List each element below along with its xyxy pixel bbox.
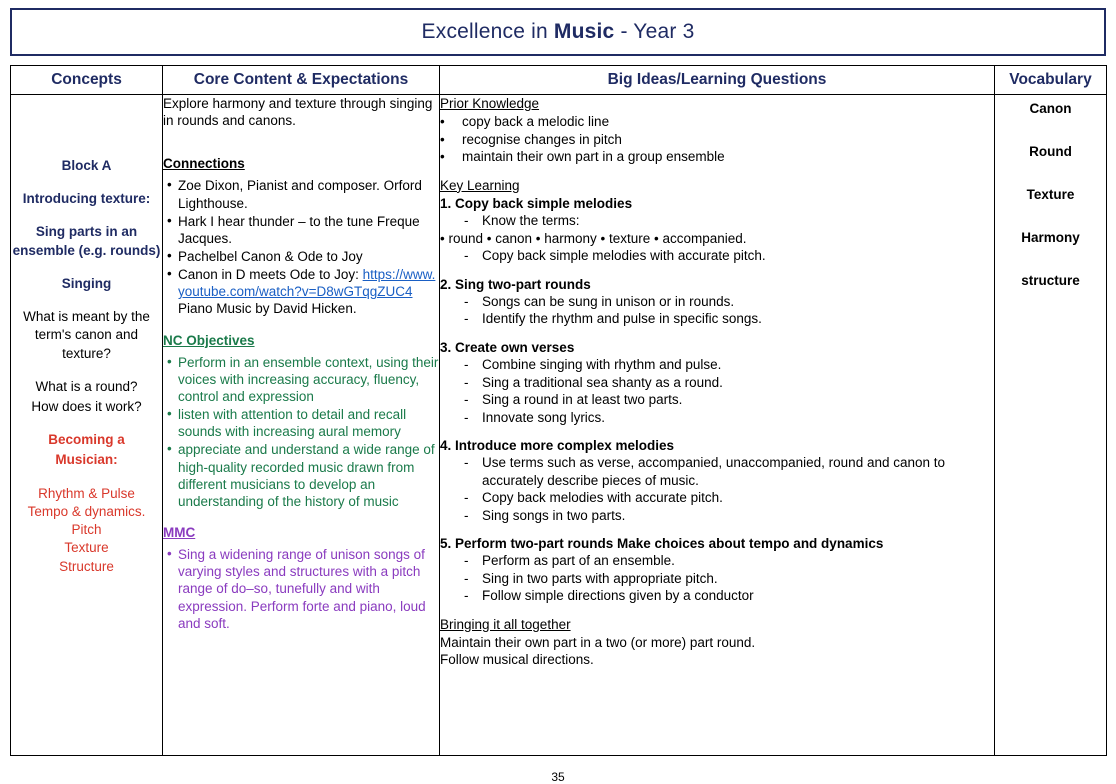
prior-knowledge-item: • recognise changes in pitch [440,131,994,148]
vocabulary-item: structure [995,273,1106,288]
key-learning-line: - Songs can be sung in unison or in roun… [440,293,994,310]
key-learning-section-title: 3. Create own verses [440,339,994,356]
concepts-intro: Introducing texture: [11,190,162,208]
page-number: 35 [0,770,1116,784]
concepts-singing: Singing [11,275,162,293]
connections-item: Pachelbel Canon & Ode to Joy [178,248,439,265]
page-title: Excellence in Music - Year 3 [422,20,695,44]
dash-icon: - [464,489,482,506]
core-intro-text: Explore harmony and texture through sing… [163,95,439,129]
dash-icon: - [464,507,482,524]
column-header-core: Core Content & Expectations [163,66,440,95]
dash-icon: - [464,570,482,587]
bringing-together-heading: Bringing it all together [440,616,994,633]
key-learning-section-title: 2. Sing two-part rounds [440,276,994,293]
link-trailer: Piano Music by David Hicken. [178,301,357,316]
concepts-becoming-line2: Musician: [11,451,162,469]
key-learning-text: Sing a traditional sea shanty as a round… [482,374,994,391]
connection-link-lead: Canon in D meets Ode to Joy: [178,267,359,282]
nc-objective-item: listen with attention to detail and reca… [178,406,439,440]
prior-knowledge-item: • copy back a melodic line [440,113,994,130]
key-learning-line: - Know the terms: [440,212,994,229]
concepts-question-1: What is meant by the term's canon and te… [11,308,162,363]
key-learning-terms: • round • canon • harmony • texture • ac… [440,230,994,247]
key-learning-line: - Use terms such as verse, accompanied, … [440,454,994,489]
column-header-concepts: Concepts [11,66,163,95]
big-ideas-cell: Prior Knowledge • copy back a melodic li… [440,95,995,756]
nc-objective-item: appreciate and understand a wide range o… [178,441,439,510]
prior-knowledge-text: copy back a melodic line [462,113,609,130]
key-learning-section-title: 1. Copy back simple melodies [440,195,994,212]
key-learning-text: Sing songs in two parts. [482,507,994,524]
dash-icon: - [464,212,482,229]
curriculum-table: Concepts Core Content & Expectations Big… [10,65,1107,756]
nc-objectives-heading: NC Objectives [163,332,439,349]
worksheet-page: Excellence in Music - Year 3 Concepts Co… [0,0,1116,781]
page-title-bar: Excellence in Music - Year 3 [10,8,1106,56]
connections-item-link: Canon in D meets Ode to Joy: https://www… [178,266,439,317]
dash-icon: - [464,552,482,569]
prior-knowledge-text: recognise changes in pitch [462,131,622,148]
dash-icon: - [464,293,482,310]
concepts-musician-item: Pitch [11,521,162,539]
connections-list: Zoe Dixon, Pianist and composer. Orford … [163,177,439,317]
key-learning-line: - Sing a round in at least two parts. [440,391,994,408]
bringing-together-line: Follow musical directions. [440,651,994,668]
concepts-question-2b: How does it work? [11,398,162,416]
key-learning-line: - Sing a traditional sea shanty as a rou… [440,374,994,391]
key-learning-text: Sing in two parts with appropriate pitch… [482,570,994,587]
key-learning-text: Innovate song lyrics. [482,409,994,426]
column-header-big-ideas: Big Ideas/Learning Questions [440,66,995,95]
key-learning-section-title: 5. Perform two-part rounds Make choices … [440,535,994,552]
spacer [163,319,439,332]
title-suffix: - Year 3 [614,20,694,43]
vocabulary-item: Harmony [995,230,1106,245]
key-learning-line: - Sing songs in two parts. [440,507,994,524]
key-learning-heading: Key Learning [440,177,994,194]
concepts-block-label: Block A [11,157,162,175]
concepts-question-2a: What is a round? [11,378,162,396]
column-header-vocabulary: Vocabulary [995,66,1107,95]
dash-icon: - [464,409,482,426]
concepts-content: Block A Introducing texture: Sing parts … [11,95,162,576]
connections-item: Hark I hear thunder – to the tune Freque… [178,213,439,247]
key-learning-line: - Sing in two parts with appropriate pit… [440,570,994,587]
dash-icon: - [464,247,482,264]
key-learning-line: - Combine singing with rhythm and pulse. [440,356,994,373]
concepts-musician-item: Texture [11,539,162,557]
key-learning-text: Perform as part of an ensemble. [482,552,994,569]
key-learning-line: - Identify the rhythm and pulse in speci… [440,310,994,327]
dash-icon: - [464,310,482,327]
vocabulary-list: Canon Round Texture Harmony structure [995,95,1106,288]
key-learning-line: - Innovate song lyrics. [440,409,994,426]
spacer [440,166,994,177]
bringing-together-line: Maintain their own part in a two (or mor… [440,634,994,651]
prior-knowledge-item: • maintain their own part in a group ens… [440,148,994,165]
concepts-becoming-line1: Becoming a [11,431,162,449]
table-header-row: Concepts Core Content & Expectations Big… [11,66,1107,95]
dash-icon: - [464,391,482,408]
concepts-sing: Sing parts in an ensemble (e.g. rounds) [11,223,162,259]
mmc-heading: MMC [163,524,439,541]
key-learning-section-title: 4. Introduce more complex melodies [440,437,994,454]
mmc-list: Sing a widening range of unison songs of… [163,546,439,632]
key-learning-line: - Perform as part of an ensemble. [440,552,994,569]
key-learning-line: - Copy back melodies with accurate pitch… [440,489,994,506]
key-learning-text: Use terms such as verse, accompanied, un… [482,454,994,489]
concepts-musician-item: Structure [11,558,162,576]
nc-objective-item: Perform in an ensemble context, using th… [178,354,439,405]
dash-icon: - [464,356,482,373]
nc-objectives-list: Perform in an ensemble context, using th… [163,354,439,510]
concepts-musician-item: Rhythm & Pulse [11,485,162,503]
key-learning-text: Sing a round in at least two parts. [482,391,994,408]
concepts-cell: Block A Introducing texture: Sing parts … [11,95,163,756]
concepts-musician-item: Tempo & dynamics. [11,503,162,521]
spacer [163,511,439,524]
core-content: Explore harmony and texture through sing… [163,95,439,632]
spacer [440,605,994,616]
dash-icon: - [464,587,482,604]
mmc-item: Sing a widening range of unison songs of… [178,546,439,632]
bullet-icon: • [440,113,462,130]
bullet-icon: • [440,148,462,165]
connections-heading: Connections [163,155,439,172]
key-learning-text: Know the terms: [482,212,994,229]
table-body-row: Block A Introducing texture: Sing parts … [11,95,1107,756]
vocabulary-item: Texture [995,187,1106,202]
key-learning-text: Copy back simple melodies with accurate … [482,247,994,264]
vocabulary-item: Canon [995,101,1106,116]
dash-icon: - [464,454,482,489]
title-prefix: Excellence in [422,20,554,43]
core-content-cell: Explore harmony and texture through sing… [163,95,440,756]
vocabulary-item: Round [995,144,1106,159]
key-learning-text: Follow simple directions given by a cond… [482,587,994,604]
prior-knowledge-text: maintain their own part in a group ensem… [462,148,725,165]
vocabulary-cell: Canon Round Texture Harmony structure [995,95,1107,756]
connections-item: Zoe Dixon, Pianist and composer. Orford … [178,177,439,211]
prior-knowledge-heading: Prior Knowledge [440,95,994,112]
key-learning-text: Songs can be sung in unison or in rounds… [482,293,994,310]
key-learning-text: Copy back melodies with accurate pitch. [482,489,994,506]
bullet-icon: • [440,131,462,148]
key-learning-line: - Follow simple directions given by a co… [440,587,994,604]
key-learning-text: Combine singing with rhythm and pulse. [482,356,994,373]
dash-icon: - [464,374,482,391]
title-subject: Music [554,20,615,43]
key-learning-line: - Copy back simple melodies with accurat… [440,247,994,264]
key-learning-text: Identify the rhythm and pulse in specifi… [482,310,994,327]
big-ideas-content: Prior Knowledge • copy back a melodic li… [440,95,994,669]
